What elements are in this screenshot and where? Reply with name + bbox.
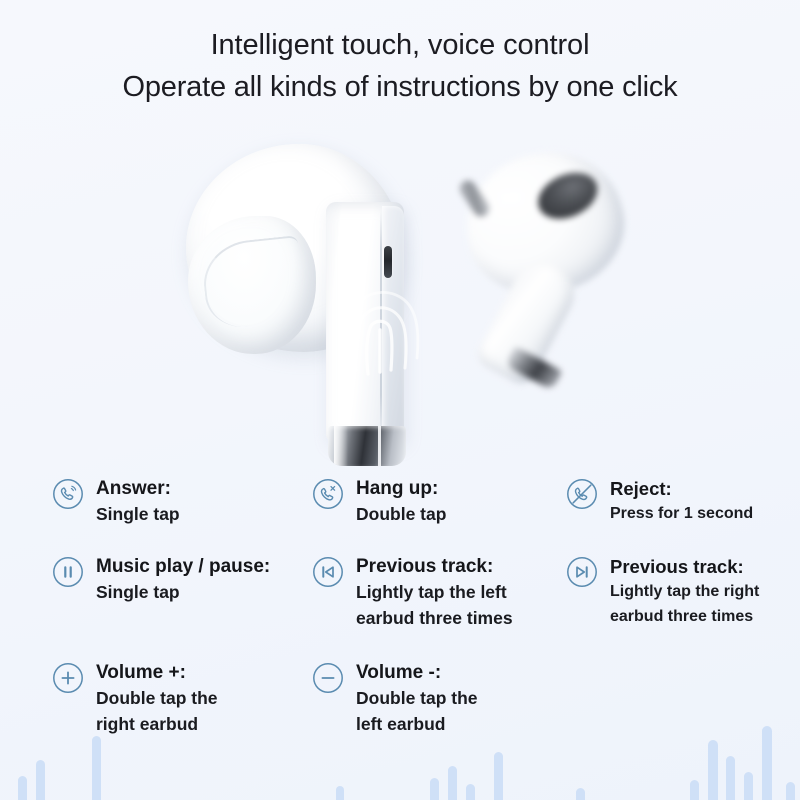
product-image (0, 130, 800, 470)
earbud-tip-highlight (334, 426, 348, 466)
feature-hang-up: Hang up: Double tap (312, 476, 446, 527)
feature-answer-text: Answer: Single tap (96, 476, 180, 527)
minus-icon (312, 662, 344, 694)
heading-line-1: Intelligent touch, voice control (0, 24, 800, 66)
feature-hang-up-text: Hang up: Double tap (356, 476, 446, 527)
earbud-front (186, 144, 436, 466)
feature-previous-track-right-text: Previous track: Lightly tap the right ea… (610, 554, 759, 629)
equalizer-bar (430, 778, 439, 800)
feature-desc-line: Press for 1 second (610, 501, 753, 526)
fingerprint-sensor-icon (336, 284, 424, 380)
feature-row-1: Answer: Single tap Hang up: Double tap (0, 476, 800, 554)
next-track-icon (566, 556, 598, 588)
feature-desc-line: Lightly tap the right (610, 579, 759, 604)
plus-icon (52, 662, 84, 694)
pause-icon (52, 556, 84, 588)
feature-previous-track-left-text: Previous track: Lightly tap the left ear… (356, 554, 513, 631)
feature-answer: Answer: Single tap (52, 476, 180, 527)
feature-desc-line: earbud three times (610, 604, 759, 629)
equalizer-bar (744, 772, 753, 800)
feature-desc-line: Lightly tap the left (356, 579, 513, 605)
feature-list: Answer: Single tap Hang up: Double tap (0, 476, 800, 760)
feature-row-2: Music play / pause: Single tap Previous … (0, 554, 800, 660)
equalizer-bar (576, 788, 585, 800)
feature-music-play-pause-text: Music play / pause: Single tap (96, 554, 270, 605)
feature-previous-track-right: Previous track: Lightly tap the right ea… (566, 554, 759, 629)
phone-answer-icon (52, 478, 84, 510)
feature-volume-down-text: Volume -: Double tap the left earbud (356, 660, 478, 737)
feature-desc-line: right earbud (96, 711, 218, 737)
feature-desc-line: Double tap the (96, 685, 218, 711)
feature-desc-line: Single tap (96, 501, 180, 527)
phone-hangup-icon (312, 478, 344, 510)
earbud-front-metal-tip (328, 426, 406, 466)
feature-title: Volume -: (356, 660, 478, 685)
heading-line-2: Operate all kinds of instructions by one… (0, 66, 800, 108)
feature-title: Volume +: (96, 660, 218, 685)
earbud-tip-gap (378, 426, 381, 466)
earbud-back (440, 137, 678, 393)
feature-title: Answer: (96, 476, 180, 501)
heading-block: Intelligent touch, voice control Operate… (0, 24, 800, 108)
feature-title: Hang up: (356, 476, 446, 501)
earbud-microphone-slot (384, 246, 392, 278)
feature-volume-up: Volume +: Double tap the right earbud (52, 660, 218, 737)
equalizer-bar (726, 756, 735, 800)
feature-desc-line: Single tap (96, 579, 270, 605)
feature-desc-line: earbud three times (356, 605, 513, 631)
feature-music-play-pause: Music play / pause: Single tap (52, 554, 270, 605)
feature-reject-text: Reject: Press for 1 second (610, 476, 753, 526)
equalizer-bar (448, 766, 457, 800)
feature-title: Music play / pause: (96, 554, 270, 579)
equalizer-bar (690, 780, 699, 800)
feature-desc-line: left earbud (356, 711, 478, 737)
equalizer-bar (336, 786, 344, 800)
equalizer-bar (466, 784, 475, 800)
feature-reject: Reject: Press for 1 second (566, 476, 753, 526)
previous-track-icon (312, 556, 344, 588)
equalizer-bar (18, 776, 27, 800)
feature-volume-up-text: Volume +: Double tap the right earbud (96, 660, 218, 737)
feature-desc-line: Double tap the (356, 685, 478, 711)
infographic-page: Intelligent touch, voice control Operate… (0, 0, 800, 800)
feature-volume-down: Volume -: Double tap the left earbud (312, 660, 478, 737)
feature-previous-track-left: Previous track: Lightly tap the left ear… (312, 554, 513, 631)
feature-title: Previous track: (356, 554, 513, 579)
feature-title: Reject: (610, 476, 753, 501)
feature-title: Previous track: (610, 554, 759, 579)
equalizer-bar (786, 782, 795, 800)
feature-desc-line: Double tap (356, 501, 446, 527)
feature-row-3: Volume +: Double tap the right earbud Vo… (0, 660, 800, 760)
phone-reject-icon (566, 478, 598, 510)
equalizer-bar (36, 760, 45, 800)
